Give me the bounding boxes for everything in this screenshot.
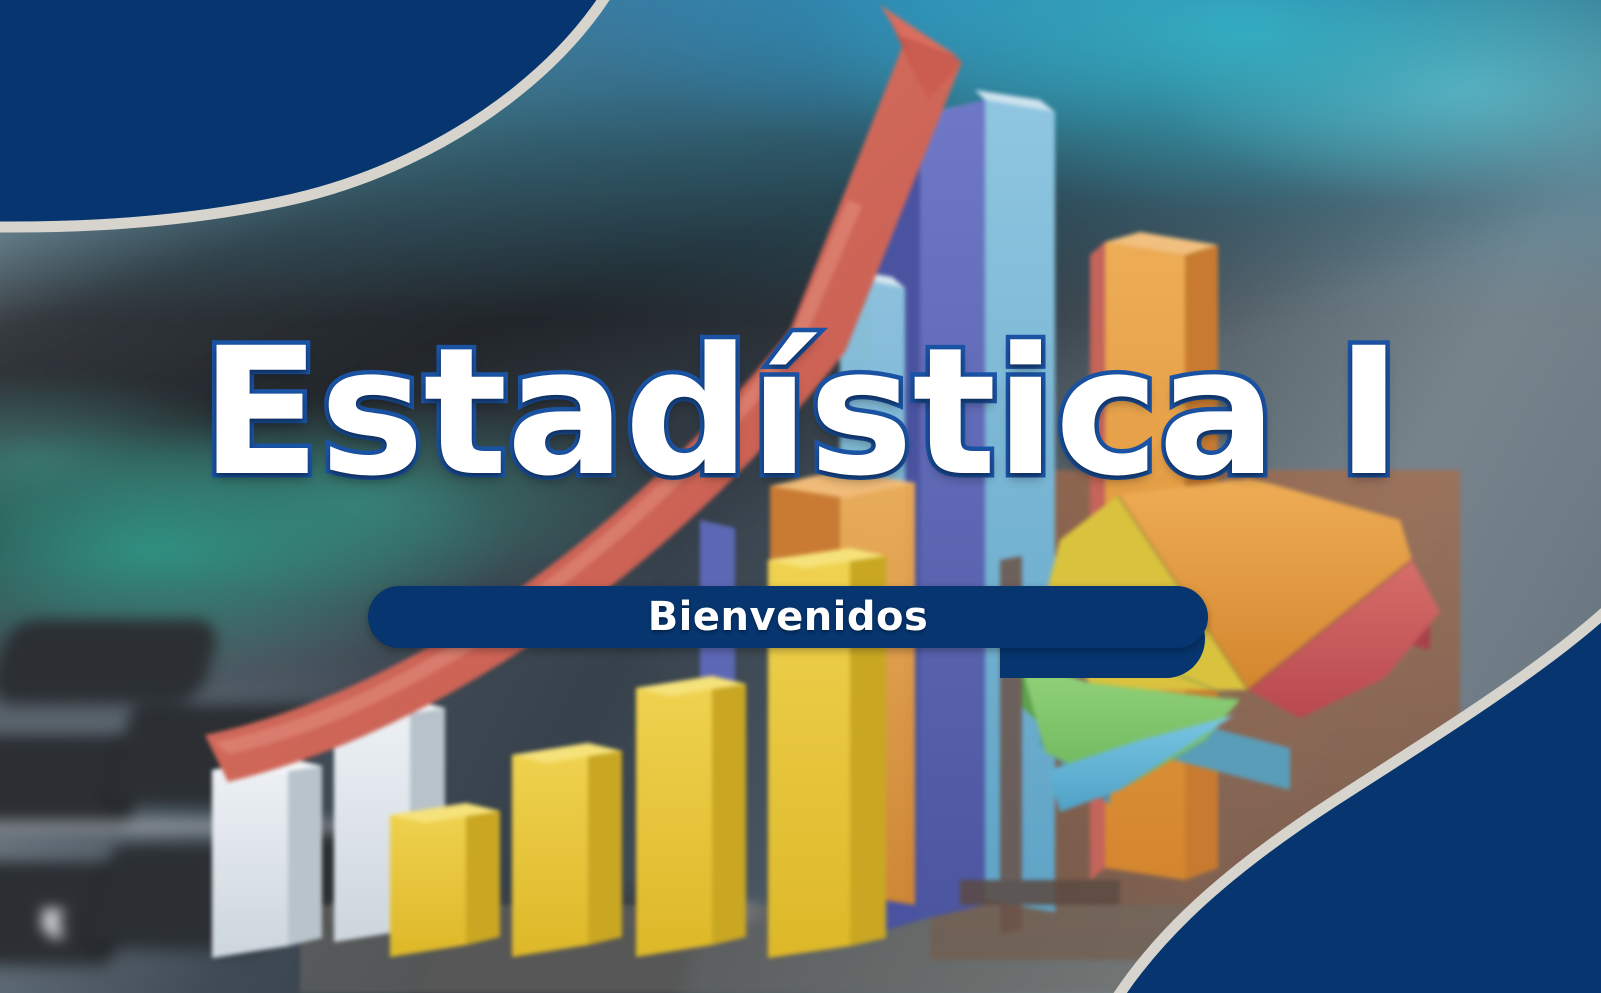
welcome-label: Bienvenidos [648, 594, 929, 640]
welcome-pill: Bienvenidos [368, 586, 1208, 648]
slide-canvas: Estadística I Bienvenidos [0, 0, 1601, 993]
corner-decoration-top-left [0, 0, 680, 260]
